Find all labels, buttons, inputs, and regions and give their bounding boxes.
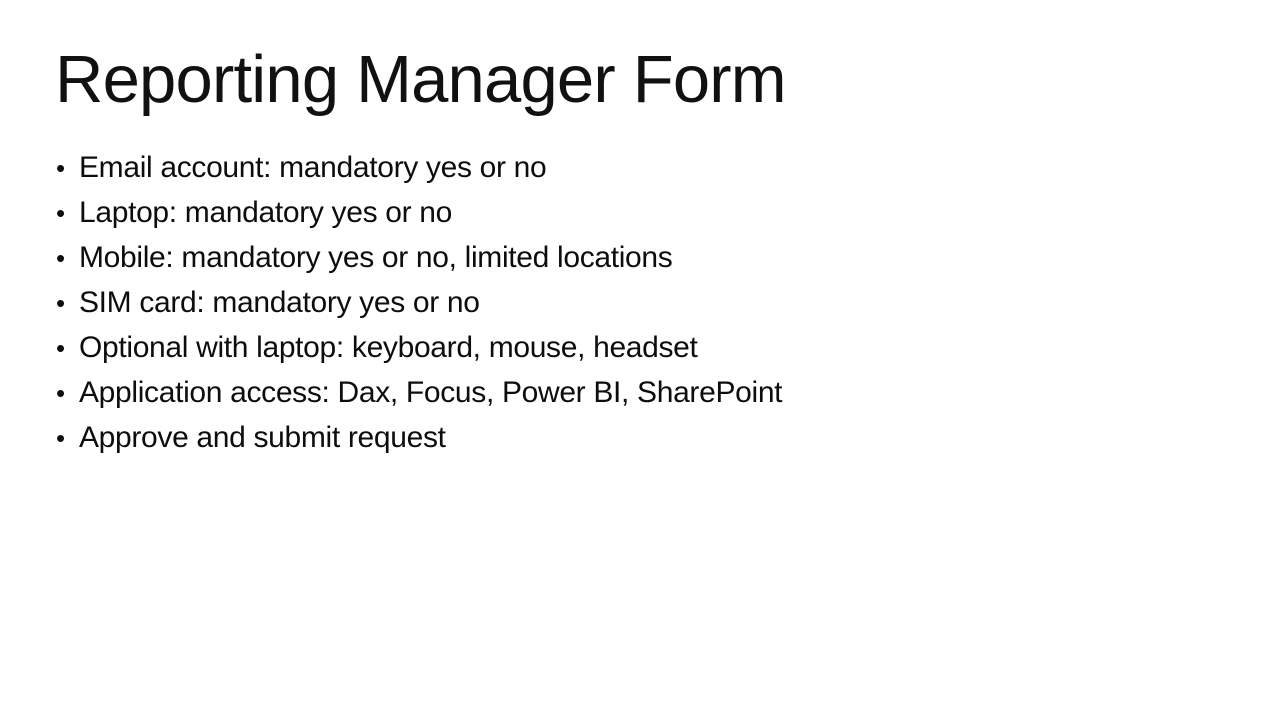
bullet-point-icon: • (56, 191, 79, 236)
list-item-label: Mobile: mandatory yes or no, limited loc… (79, 235, 672, 280)
list-item: • Application access: Dax, Focus, Power … (56, 370, 1236, 415)
page-title: Reporting Manager Form (55, 46, 1225, 114)
list-item-label: Optional with laptop: keyboard, mouse, h… (79, 325, 698, 370)
list-item-label: Application access: Dax, Focus, Power BI… (79, 370, 782, 415)
list-item: • Laptop: mandatory yes or no (56, 190, 1236, 235)
presentation-slide: Reporting Manager Form • Email account: … (0, 0, 1280, 720)
bullet-point-icon: • (56, 371, 79, 416)
bullet-point-icon: • (56, 146, 79, 191)
list-item: • Optional with laptop: keyboard, mouse,… (56, 325, 1236, 370)
list-item-label: Laptop: mandatory yes or no (79, 190, 452, 235)
bullet-point-icon: • (56, 236, 79, 281)
list-item: • Email account: mandatory yes or no (56, 145, 1236, 190)
bullet-list: • Email account: mandatory yes or no • L… (56, 145, 1236, 460)
list-item: • Approve and submit request (56, 415, 1236, 460)
list-item-label: Email account: mandatory yes or no (79, 145, 546, 190)
list-item-label: Approve and submit request (79, 415, 446, 460)
list-item: • Mobile: mandatory yes or no, limited l… (56, 235, 1236, 280)
bullet-point-icon: • (56, 416, 79, 461)
bullet-point-icon: • (56, 326, 79, 371)
list-item-label: SIM card: mandatory yes or no (79, 280, 480, 325)
bullet-point-icon: • (56, 281, 79, 326)
list-item: • SIM card: mandatory yes or no (56, 280, 1236, 325)
